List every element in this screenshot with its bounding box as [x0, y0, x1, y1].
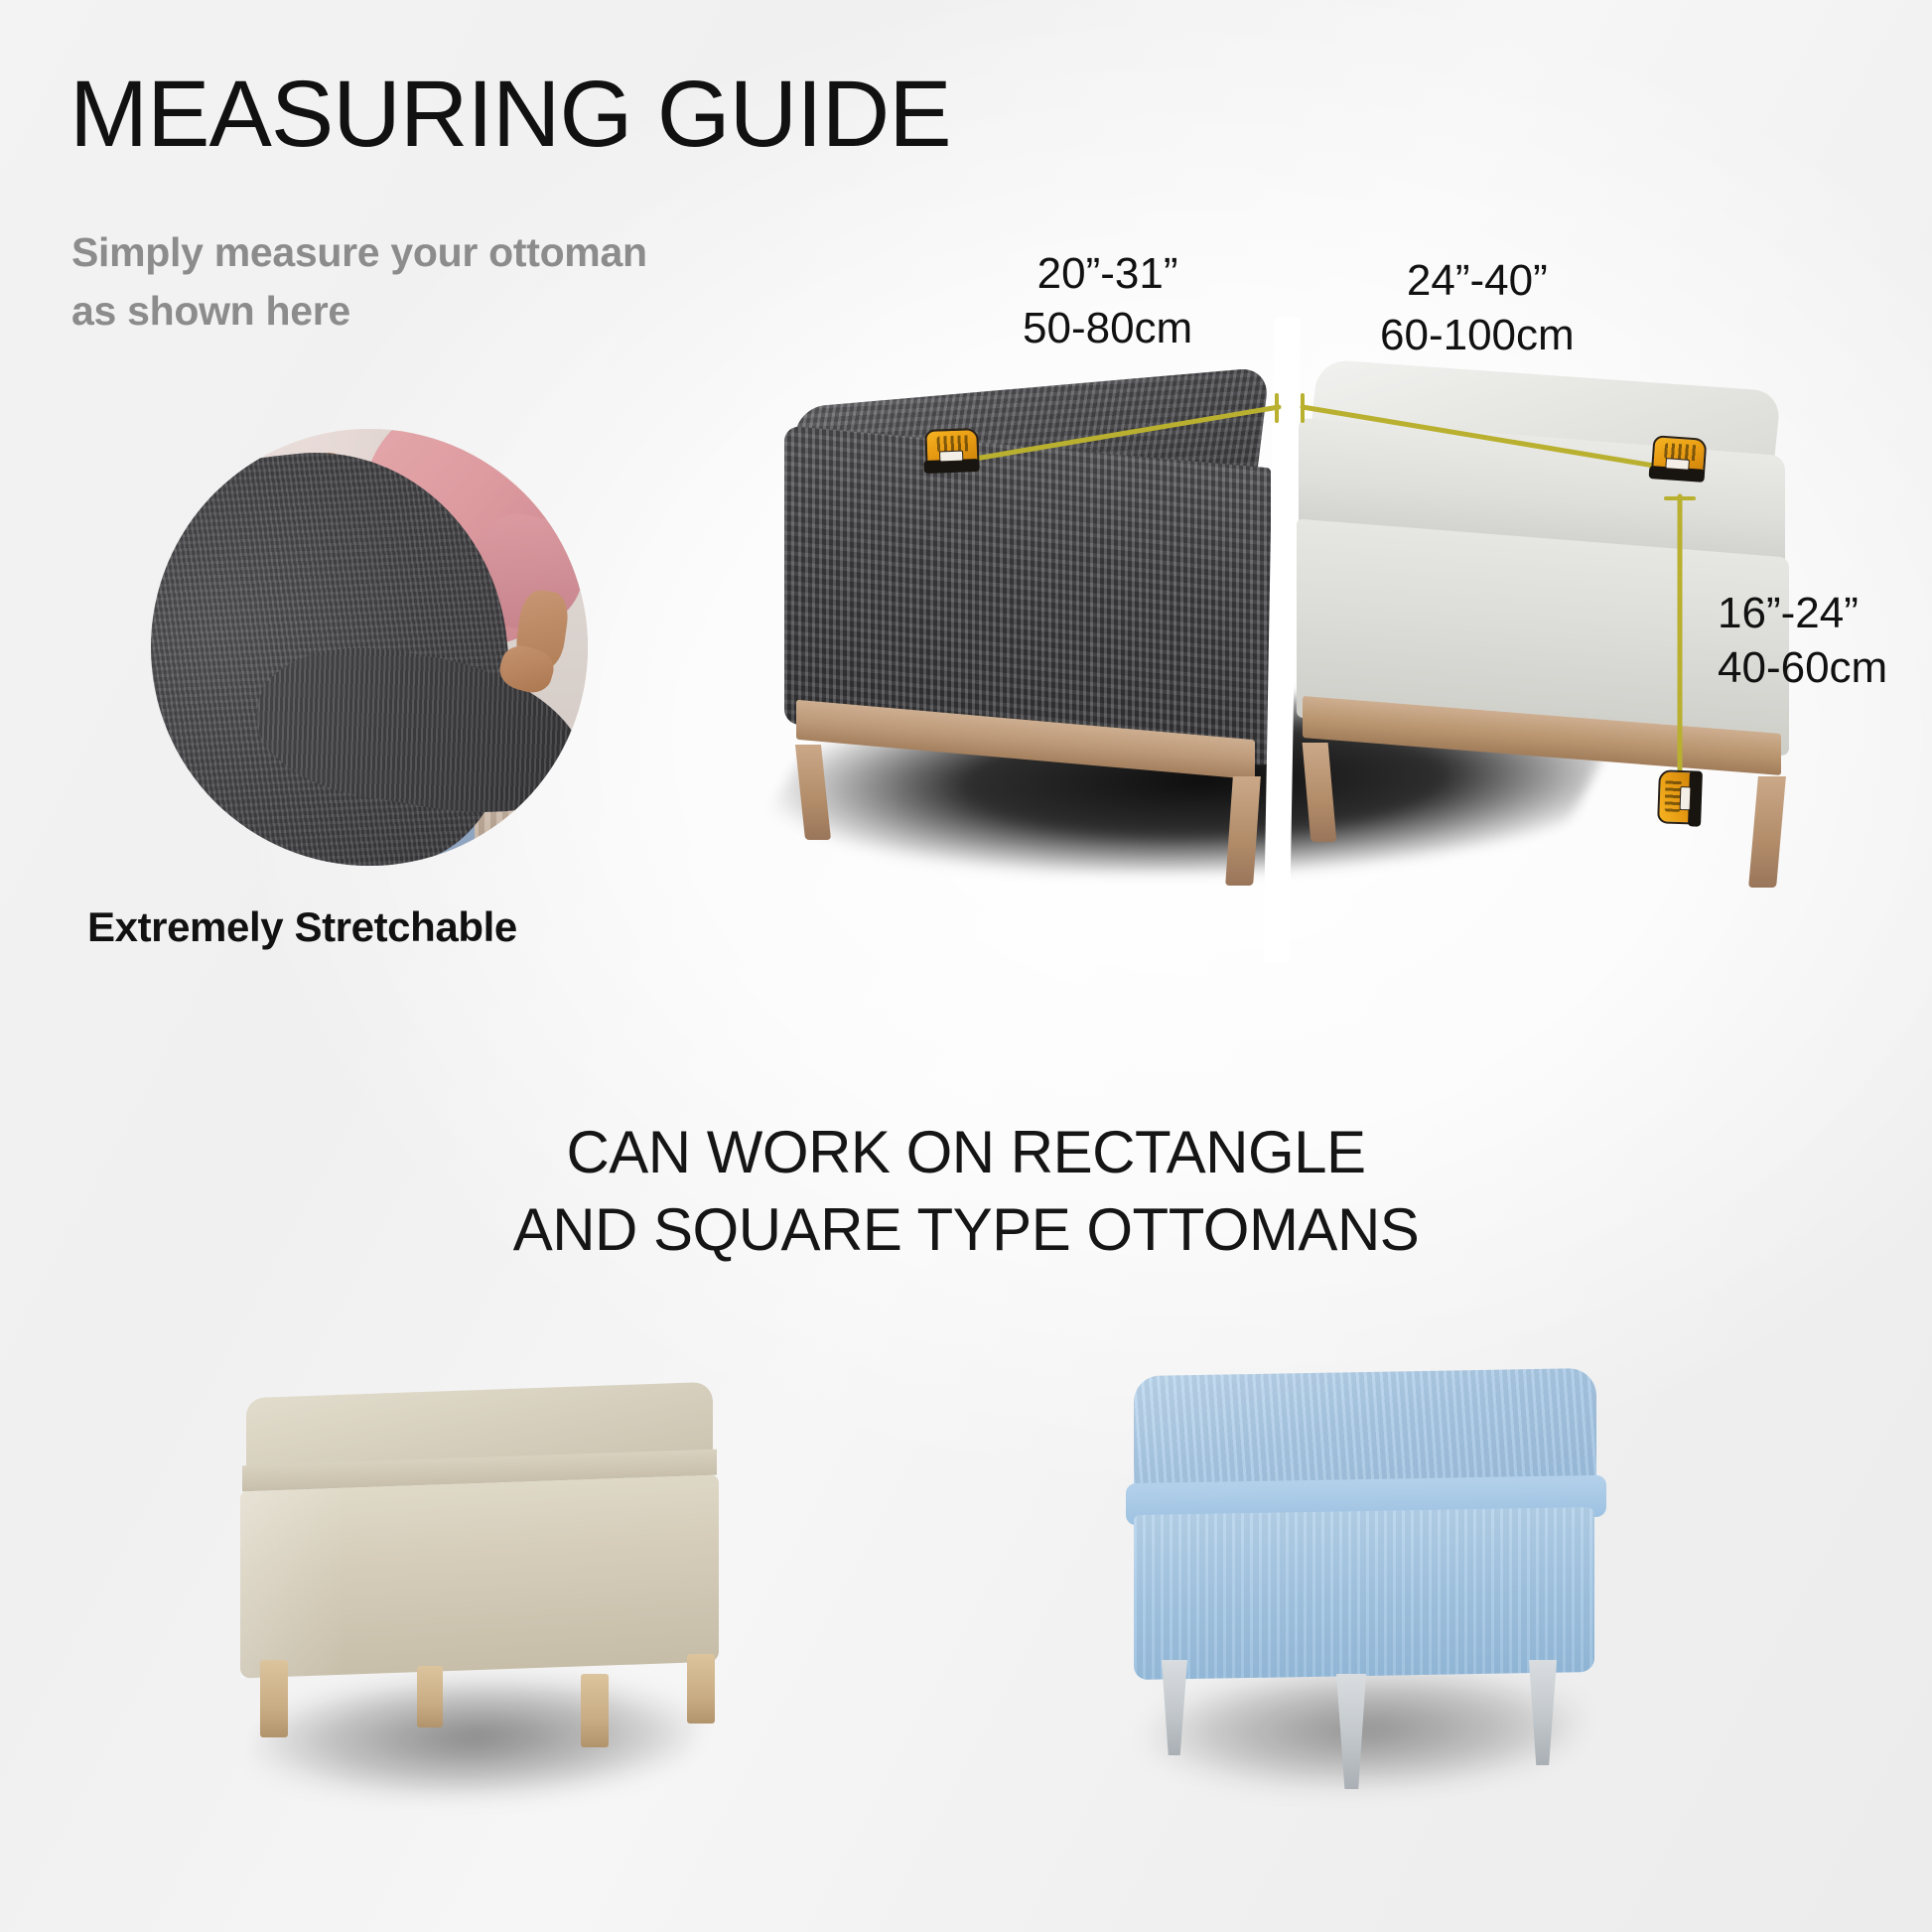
rectangle-ottoman-example [228, 1380, 745, 1777]
dimension-width-cm: 50-80cm [1023, 301, 1192, 355]
compatibility-headline: CAN WORK ON RECTANGLE AND SQUARE TYPE OT… [0, 1114, 1932, 1269]
dimension-height-inches: 16”-24” [1718, 586, 1887, 640]
rectangle-ottoman-body [240, 1475, 719, 1679]
dimension-depth: 24”-40” 60-100cm [1380, 253, 1575, 363]
rectangle-ottoman-leg-1 [260, 1660, 288, 1737]
dimension-width-inches: 20”-31” [1023, 246, 1192, 301]
tape-measure-icon-right [1649, 435, 1708, 483]
hero-ottoman-split [755, 328, 1757, 943]
dimension-depth-inches: 24”-40” [1380, 253, 1575, 308]
compatibility-line-1: CAN WORK ON RECTANGLE [0, 1114, 1932, 1191]
square-ottoman-example [1112, 1362, 1628, 1779]
dimension-width: 20”-31” 50-80cm [1023, 246, 1192, 356]
page-subtitle: Simply measure your ottoman as shown her… [71, 223, 647, 342]
tape-window [939, 451, 963, 463]
rectangle-ottoman-leg-3 [581, 1674, 609, 1747]
tape-window [1665, 458, 1690, 471]
subtitle-line-1: Simply measure your ottoman [71, 223, 647, 282]
rectangle-ottoman-leg-4 [687, 1654, 715, 1724]
stretchable-caption: Extremely Stretchable [87, 903, 517, 951]
tape-measure-icon-bottom [1657, 769, 1703, 827]
rectangle-ottoman-shadow [239, 1678, 715, 1797]
tape-window [1680, 786, 1692, 810]
rectangle-ottoman-leg-2 [417, 1666, 443, 1727]
dimension-height: 16”-24” 40-60cm [1718, 586, 1887, 696]
dimension-depth-cm: 60-100cm [1380, 308, 1575, 362]
compatibility-line-2: AND SQUARE TYPE OTTOMANS [0, 1191, 1932, 1269]
subtitle-line-2: as shown here [71, 282, 647, 341]
tape-measure-icon-left [922, 428, 980, 474]
square-ottoman-body [1134, 1507, 1594, 1680]
stretchable-photo [151, 429, 588, 866]
dimension-height-cm: 40-60cm [1718, 640, 1887, 695]
page-title: MEASURING GUIDE [69, 68, 951, 162]
